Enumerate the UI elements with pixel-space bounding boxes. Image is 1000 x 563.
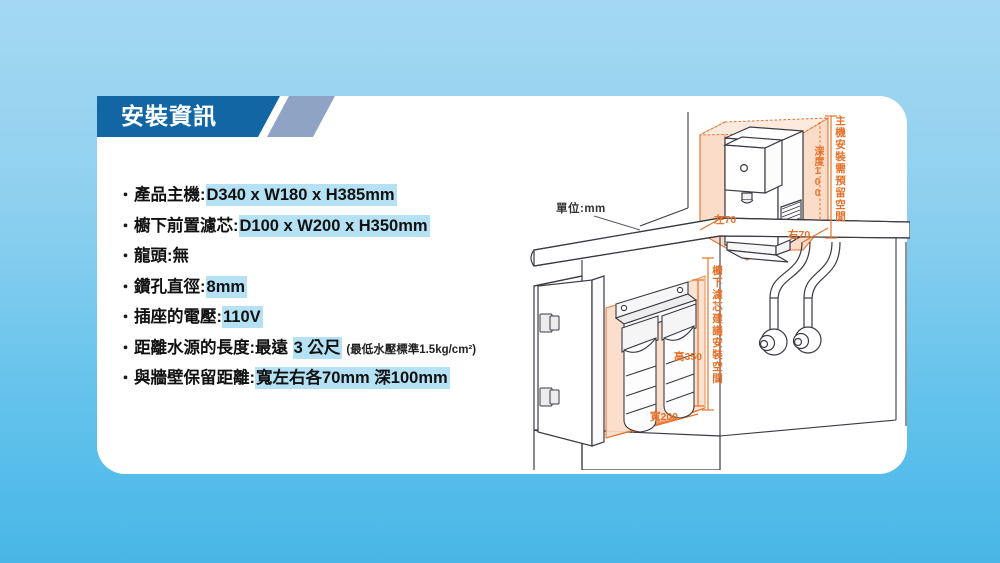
wall-corner-lines <box>640 112 688 226</box>
bullet-icon: ・ <box>118 340 133 357</box>
label-depth-100: 深度100 <box>812 146 823 199</box>
spec-label: 插座的電壓: <box>134 308 222 326</box>
spec-label: 距離水源的長度:最遠 <box>134 339 293 357</box>
spec-label: 與牆壁保留距離: <box>134 369 255 387</box>
installation-spec-list: ・產品主機:D340 x W180 x H385mm ・櫥下前置濾芯:D100 … <box>118 180 538 394</box>
spec-label: 龍頭: <box>134 247 173 265</box>
spec-value: D100 x W200 x H350mm <box>239 215 430 237</box>
spec-row-product-unit: ・產品主機:D340 x W180 x H385mm <box>118 180 538 211</box>
spec-label: 鑽孔直徑: <box>134 278 206 296</box>
bullet-icon: ・ <box>118 187 133 204</box>
spec-value: 寬左右各70mm 深100mm <box>255 367 450 389</box>
spec-value: 110V <box>222 306 263 328</box>
spec-value: 無 <box>173 247 190 265</box>
bullet-icon: ・ <box>118 248 133 265</box>
bullet-icon: ・ <box>118 279 133 296</box>
label-height-350: 高350 <box>674 349 702 364</box>
spec-value: 3 公尺 <box>293 337 343 359</box>
label-width-200: 寬200 <box>650 409 678 424</box>
unit-note-leader <box>594 216 640 230</box>
spec-label: 產品主機: <box>134 186 206 204</box>
bullet-icon: ・ <box>118 309 133 326</box>
spec-row-voltage: ・插座的電壓:110V <box>118 302 538 333</box>
spec-note: (最低水壓標準1.5kg/cm²) <box>346 344 476 356</box>
spec-row-prefilter: ・櫥下前置濾芯:D100 x W200 x H350mm <box>118 211 538 242</box>
label-right-70: 右70 <box>788 227 810 242</box>
installation-diagram: 單位:mm <box>520 90 910 470</box>
spec-value: 8mm <box>206 276 248 298</box>
spec-value: D340 x W180 x H385mm <box>206 184 397 206</box>
bullet-icon: ・ <box>118 218 133 235</box>
spec-row-faucet: ・龍頭:無 <box>118 241 538 272</box>
angle-valves <box>760 327 822 355</box>
spec-label: 櫥下前置濾芯: <box>134 217 239 235</box>
spec-row-wall-clearance: ・與牆壁保留距離:寬左右各70mm 深100mm <box>118 363 538 394</box>
label-bottom-reserve-space: 櫥下濾芯建議安裝空間 <box>710 265 725 385</box>
spec-row-water-distance: ・距離水源的長度:最遠 3 公尺(最低水壓標準1.5kg/cm²) <box>118 333 538 364</box>
cabinet-door <box>538 276 604 446</box>
label-left-70: 左70 <box>714 212 736 227</box>
label-top-reserve-space: 主機安裝需預留空間 <box>833 115 848 223</box>
bullet-icon: ・ <box>118 370 133 387</box>
spec-row-drill-diameter: ・鑽孔直徑:8mm <box>118 272 538 303</box>
water-supply-pipes <box>770 242 840 330</box>
